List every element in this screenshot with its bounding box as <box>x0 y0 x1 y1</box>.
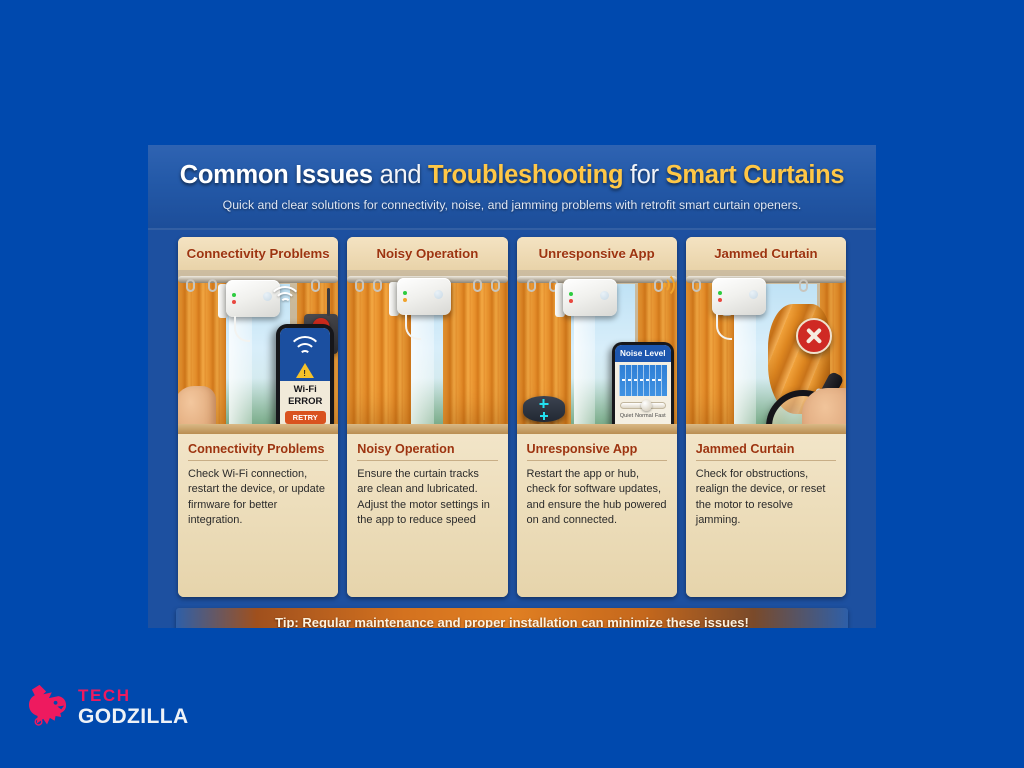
divider <box>696 460 836 461</box>
title-part-3: Troubleshooting <box>428 161 623 189</box>
warning-triangle-icon <box>296 363 314 378</box>
floor-edge <box>517 424 677 434</box>
divider <box>357 460 497 461</box>
phone-screen-heading: Noise Level <box>615 345 671 362</box>
card-strip: Connectivity Problems <box>148 237 876 597</box>
curtain-ring-icon <box>527 279 536 292</box>
card-description: Restart the app or hub, check for softwa… <box>527 467 667 529</box>
card-illustration-unresponsive: Noise Level Quiet Normal Fast <box>517 270 677 434</box>
infographic-poster: Common Issues and Troubleshooting for Sm… <box>148 145 876 628</box>
card-description: Ensure the curtain tracks are clean and … <box>357 467 497 529</box>
card-title: Jammed Curtain <box>696 442 836 456</box>
smart-curtain-motor <box>712 278 766 315</box>
floor-edge <box>347 424 507 434</box>
tip-banner: Tip: Regular maintenance and proper inst… <box>176 608 848 628</box>
card-unresponsive-app[interactable]: Unresponsive App <box>517 237 677 597</box>
antenna-icon <box>327 288 330 316</box>
smart-curtain-motor <box>563 279 617 316</box>
card-header: Jammed Curtain <box>686 237 846 270</box>
poster-header: Common Issues and Troubleshooting for Sm… <box>148 145 876 230</box>
phone-screen: Noise Level Quiet Normal Fast <box>615 345 671 431</box>
led-green-icon <box>569 292 573 296</box>
curtain-ring-icon <box>373 279 382 292</box>
curtain-right <box>443 280 507 434</box>
smart-curtain-motor <box>397 278 451 315</box>
led-green-icon <box>232 293 236 297</box>
card-title: Connectivity Problems <box>188 442 328 456</box>
curtain-ring-icon <box>692 279 701 292</box>
card-body: Jammed Curtain Check for obstructions, r… <box>686 434 846 597</box>
divider <box>188 460 328 461</box>
smartphone-noise-level[interactable]: Noise Level Quiet Normal Fast <box>612 342 674 434</box>
card-description: Check Wi-Fi connection, restart the devi… <box>188 467 328 529</box>
phone-screen: Wi-Fi ERROR RETRY <box>280 328 330 430</box>
phone-error-line-2: ERROR <box>288 397 322 408</box>
slider-tick-labels: Quiet Normal Fast <box>615 409 671 419</box>
card-illustration-connectivity: Wi-Fi ERROR RETRY <box>178 270 338 434</box>
title-part-4: for <box>623 161 665 189</box>
card-jammed-curtain[interactable]: Jammed Curtain <box>686 237 846 597</box>
title-part-2: and <box>373 161 428 189</box>
slider-label-normal: Normal <box>635 413 653 419</box>
wifi-arc-icon <box>300 350 311 361</box>
card-description: Check for obstructions, realign the devi… <box>696 467 836 529</box>
card-header-label: Connectivity Problems <box>187 246 330 261</box>
card-header: Noisy Operation <box>347 237 507 270</box>
card-title: Unresponsive App <box>527 442 667 456</box>
tip-text: Tip: Regular maintenance and proper inst… <box>275 615 749 629</box>
error-x-badge-icon <box>796 318 832 354</box>
led-red-icon <box>569 299 573 303</box>
title-part-5: Smart Curtains <box>666 161 845 189</box>
noise-level-slider[interactable] <box>620 402 666 409</box>
title-part-1: Common Issues <box>180 161 373 189</box>
brand-wordmark: TECH GODZILLA <box>78 687 189 729</box>
card-illustration-noisy <box>347 270 507 434</box>
led-green-icon <box>718 291 722 295</box>
curtain-ring-icon <box>799 279 808 292</box>
curtain-ring-icon <box>186 279 195 292</box>
floor-edge <box>178 424 338 434</box>
curtain-rod <box>686 276 846 283</box>
card-connectivity-problems[interactable]: Connectivity Problems <box>178 237 338 597</box>
motor-button-icon <box>434 290 443 299</box>
card-header-label: Jammed Curtain <box>714 246 817 261</box>
led-red-icon <box>232 300 236 304</box>
motor-button-icon <box>600 291 609 300</box>
page-title: Common Issues and Troubleshooting for Sm… <box>148 161 876 190</box>
curtain-ring-icon <box>473 279 482 292</box>
led-green-icon <box>403 291 407 295</box>
led-amber-icon <box>403 298 407 302</box>
screenshot-root: Common Issues and Troubleshooting for Sm… <box>0 0 1024 768</box>
phone-error-line-1: Wi-Fi <box>294 385 317 396</box>
slider-label-fast: Fast <box>655 413 666 419</box>
divider <box>527 460 667 461</box>
curtain-ring-icon <box>491 279 500 292</box>
card-body: Unresponsive App Restart the app or hub,… <box>517 434 677 597</box>
card-body: Connectivity Problems Check Wi-Fi connec… <box>178 434 338 597</box>
card-noisy-operation[interactable]: Noisy Operation <box>347 237 507 597</box>
card-title: Noisy Operation <box>357 442 497 456</box>
card-body: Noisy Operation Ensure the curtain track… <box>347 434 507 597</box>
retry-button[interactable]: RETRY <box>285 411 326 424</box>
page-subtitle: Quick and clear solutions for connectivi… <box>148 198 876 212</box>
card-illustration-jammed <box>686 270 846 434</box>
smart-speaker-hub[interactable] <box>523 396 565 422</box>
floor-edge <box>686 424 846 434</box>
curtain-ring-icon <box>311 279 320 292</box>
card-header: Unresponsive App <box>517 237 677 270</box>
motor-button-icon <box>749 290 758 299</box>
phone-status-area <box>280 328 330 381</box>
curtain-ring-icon <box>355 279 364 292</box>
card-header-label: Noisy Operation <box>376 246 478 261</box>
brand-tech-label: TECH <box>78 687 189 704</box>
noise-graph <box>619 365 667 396</box>
brand-logo: TECH GODZILLA <box>24 682 189 734</box>
wifi-signal-icon <box>268 276 308 310</box>
godzilla-head-icon <box>24 682 72 734</box>
led-red-icon <box>718 298 722 302</box>
slider-label-quiet: Quiet <box>620 413 633 419</box>
curtain-ring-icon <box>208 279 217 292</box>
smartphone-error-screen[interactable]: Wi-Fi ERROR RETRY <box>276 324 334 434</box>
phone-message-area: Wi-Fi ERROR RETRY <box>280 381 330 430</box>
brand-godzilla-label: GODZILLA <box>78 706 189 727</box>
card-header-label: Unresponsive App <box>539 246 655 261</box>
card-header: Connectivity Problems <box>178 237 338 270</box>
